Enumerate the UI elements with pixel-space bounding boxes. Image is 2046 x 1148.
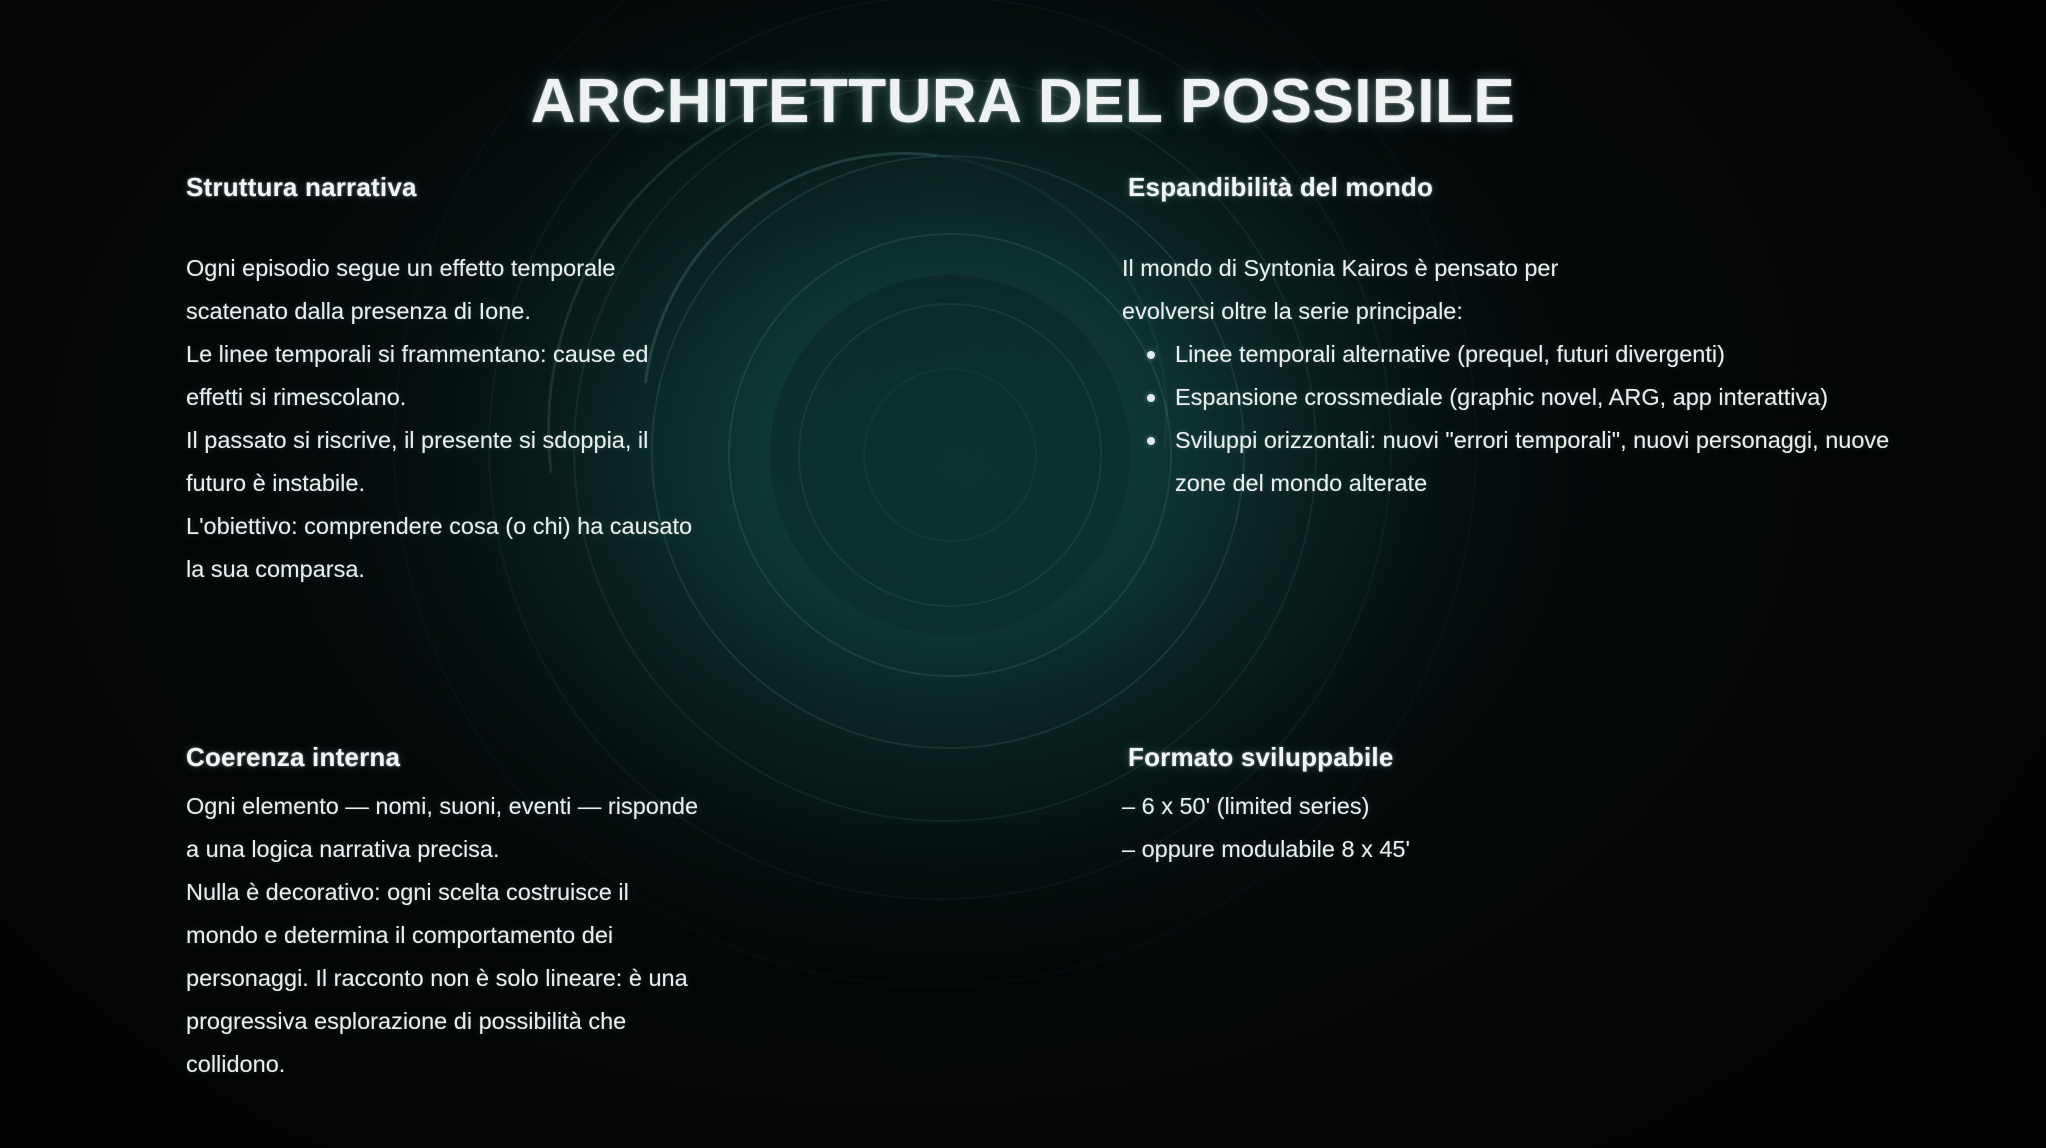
page-title: ARCHITETTURA DEL POSSIBILE bbox=[0, 66, 2046, 137]
list-item: – 6 x 50' (limited series) bbox=[1122, 785, 1912, 828]
section-heading-coerenza-interna: Coerenza interna bbox=[186, 742, 926, 773]
section-formato-sviluppabile: Formato sviluppabile – 6 x 50' (limited … bbox=[1122, 742, 1912, 871]
section-heading-espandibilita-del-mondo: Espandibilità del mondo bbox=[1122, 172, 1912, 203]
dash-list-formato-sviluppabile: – 6 x 50' (limited series) – oppure modu… bbox=[1122, 785, 1912, 871]
paragraph-line: Ogni elemento — nomi, suoni, eventi — ri… bbox=[186, 785, 926, 828]
paragraph-line: collidono. bbox=[186, 1043, 926, 1086]
paragraph-line: la sua comparsa. bbox=[186, 548, 906, 591]
slide-content: ARCHITETTURA DEL POSSIBILE Struttura nar… bbox=[0, 0, 2046, 1148]
list-item: Sviluppi orizzontali: nuovi "errori temp… bbox=[1122, 419, 1912, 505]
section-body-struttura-narrativa: Ogni episodio segue un effetto temporale… bbox=[186, 247, 906, 591]
list-item: Espansione crossmediale (graphic novel, … bbox=[1122, 376, 1912, 419]
section-body-coerenza-interna: Ogni elemento — nomi, suoni, eventi — ri… bbox=[186, 785, 926, 1086]
paragraph-line: futuro è instabile. bbox=[186, 462, 906, 505]
section-coerenza-interna: Coerenza interna Ogni elemento — nomi, s… bbox=[186, 742, 926, 1086]
paragraph-line: scatenato dalla presenza di Ione. bbox=[186, 290, 906, 333]
section-heading-formato-sviluppabile: Formato sviluppabile bbox=[1122, 742, 1912, 773]
paragraph-line: Il passato si riscrive, il presente si s… bbox=[186, 419, 906, 462]
paragraph-line: Ogni episodio segue un effetto temporale bbox=[186, 247, 906, 290]
bullet-list-espandibilita: Linee temporali alternative (prequel, fu… bbox=[1122, 333, 1912, 505]
section-struttura-narrativa: Struttura narrativa Ogni episodio segue … bbox=[186, 172, 906, 591]
paragraph-line: a una logica narrativa precisa. bbox=[186, 828, 926, 871]
paragraph-line: progressiva esplorazione di possibilità … bbox=[186, 1000, 926, 1043]
paragraph-line: Nulla è decorativo: ogni scelta costruis… bbox=[186, 871, 926, 914]
section-espandibilita-del-mondo: Espandibilità del mondo Il mondo di Synt… bbox=[1122, 172, 1912, 505]
paragraph-line: L'obiettivo: comprendere cosa (o chi) ha… bbox=[186, 505, 906, 548]
slide-canvas: ARCHITETTURA DEL POSSIBILE Struttura nar… bbox=[0, 0, 2046, 1148]
paragraph-line: Il mondo di Syntonia Kairos è pensato pe… bbox=[1122, 247, 1912, 290]
list-item: Linee temporali alternative (prequel, fu… bbox=[1122, 333, 1912, 376]
paragraph-line: mondo e determina il comportamento dei bbox=[186, 914, 926, 957]
section-intro-espandibilita: Il mondo di Syntonia Kairos è pensato pe… bbox=[1122, 247, 1912, 333]
paragraph-line: personaggi. Il racconto non è solo linea… bbox=[186, 957, 926, 1000]
paragraph-line: Le linee temporali si frammentano: cause… bbox=[186, 333, 906, 376]
section-heading-struttura-narrativa: Struttura narrativa bbox=[186, 172, 906, 203]
list-item: – oppure modulabile 8 x 45' bbox=[1122, 828, 1912, 871]
paragraph-line: effetti si rimescolano. bbox=[186, 376, 906, 419]
paragraph-line: evolversi oltre la serie principale: bbox=[1122, 290, 1912, 333]
